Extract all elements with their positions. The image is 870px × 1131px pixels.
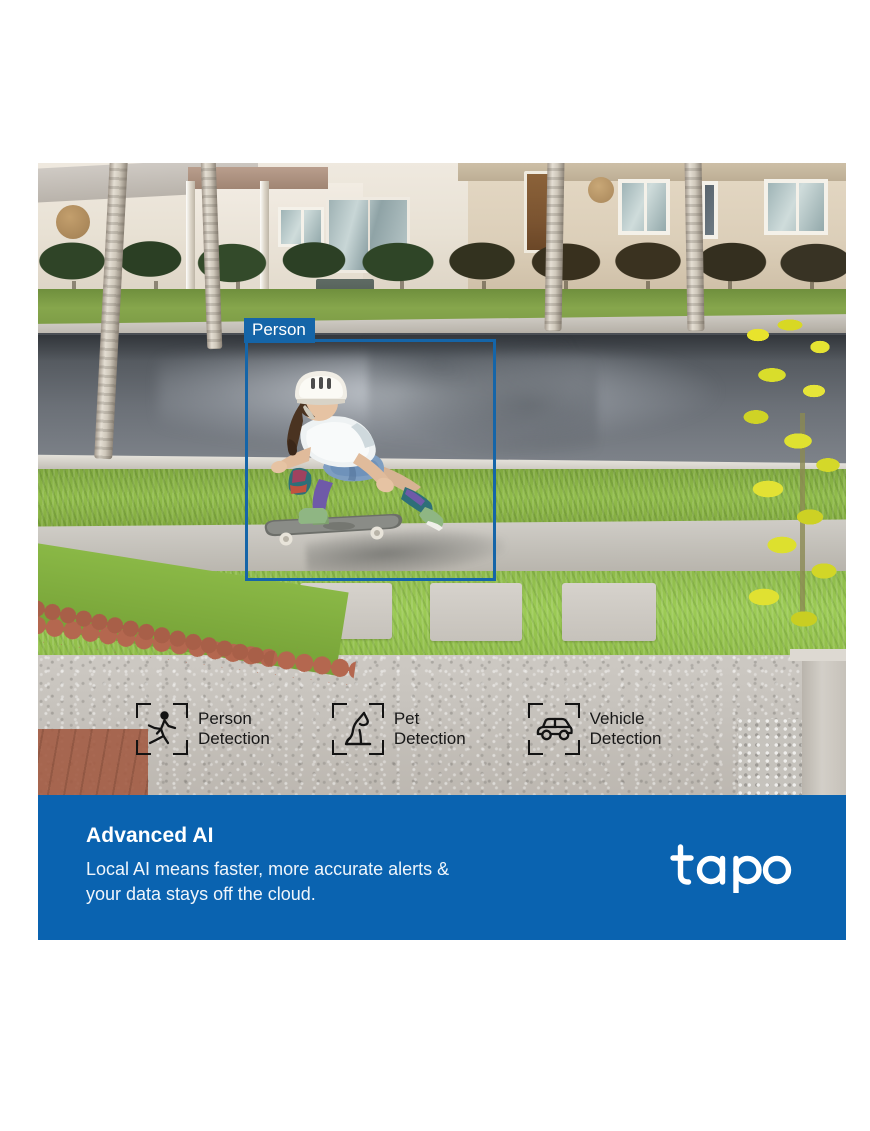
window xyxy=(764,179,828,235)
tapo-wordmark-logo xyxy=(670,841,800,893)
palm-trunk xyxy=(545,163,565,331)
wall-medallion-left xyxy=(56,205,90,239)
camera-scene-photo: Person Person Detection xyxy=(38,163,846,795)
person-detection-bounding-box xyxy=(245,339,496,581)
banner-heading: Advanced AI xyxy=(86,823,626,849)
banner-text-block: Advanced AI Local AI means faster, more … xyxy=(86,823,626,907)
yellow-shrub xyxy=(728,313,846,643)
vehicle-detection-icon xyxy=(528,703,580,755)
feature-pet-detection: Pet Detection xyxy=(332,703,466,755)
product-feature-card: Person Person Detection xyxy=(38,163,846,940)
feature-label: Person Detection xyxy=(198,709,270,749)
feature-label: Pet Detection xyxy=(394,709,466,749)
feature-person-detection: Person Detection xyxy=(136,703,270,755)
feature-label: Vehicle Detection xyxy=(590,709,662,749)
wall-medallion-right xyxy=(588,177,614,203)
ai-detection-feature-row: Person Detection Pet Detection xyxy=(38,679,846,779)
palm-trunk xyxy=(685,163,705,331)
concrete-wall-cap xyxy=(790,649,846,661)
stepping-stone xyxy=(562,583,656,641)
person-detection-icon xyxy=(136,703,188,755)
advanced-ai-banner: Advanced AI Local AI means faster, more … xyxy=(38,795,846,940)
pet-detection-icon xyxy=(332,703,384,755)
feature-vehicle-detection: Vehicle Detection xyxy=(528,703,662,755)
window xyxy=(618,179,670,235)
detection-label-badge: Person xyxy=(244,318,315,343)
banner-subtext: Local AI means faster, more accurate ale… xyxy=(86,857,626,907)
stepping-stone xyxy=(430,583,522,641)
